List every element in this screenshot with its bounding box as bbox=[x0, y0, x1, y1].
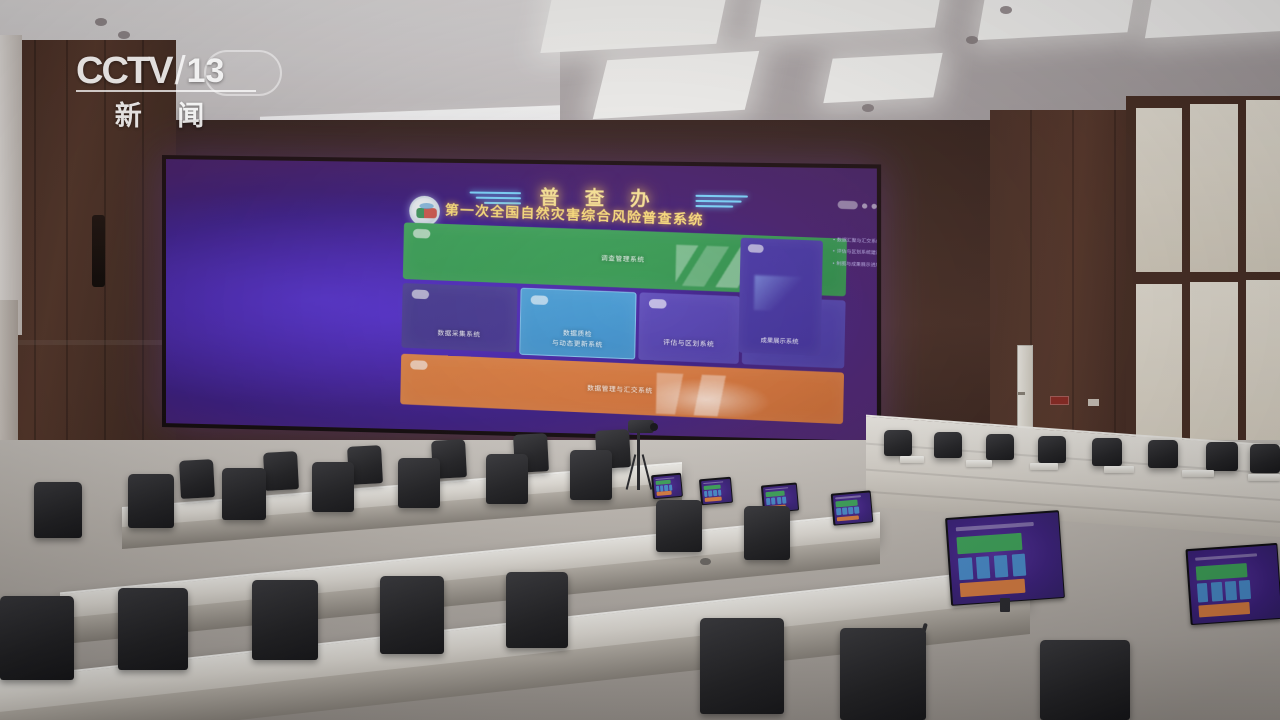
tile-data-collection[interactable]: 数据采集系统 bbox=[401, 283, 517, 353]
toolbar-user-pill[interactable] bbox=[838, 200, 858, 209]
monitor-screen-4 bbox=[832, 492, 871, 524]
monitor-screen-1 bbox=[653, 474, 682, 497]
wall-switch-plate bbox=[1088, 399, 1099, 406]
dais-chair-2 bbox=[934, 432, 962, 458]
tile-data-quality[interactable]: 数据质检 与动态更新系统 bbox=[519, 288, 636, 360]
screen-header-subtitle: 第一次全国自然灾害综合风险普查系统 bbox=[445, 198, 704, 229]
middle-chair-3 bbox=[222, 468, 266, 520]
main-led-wall[interactable]: 普 查 办 第一次全国自然灾害综合风险普查系统 bbox=[162, 155, 881, 445]
ceiling-fixture-dot-5 bbox=[118, 31, 130, 39]
tile-icon-exchange bbox=[410, 360, 428, 370]
tile-label-collection: 数据采集系统 bbox=[402, 327, 517, 342]
exit-sign bbox=[1050, 396, 1069, 405]
ceiling-fixture-dot-4 bbox=[95, 18, 107, 26]
tile-icon-collection bbox=[412, 289, 430, 299]
tile-result-display[interactable]: 成果展示系统 bbox=[738, 238, 823, 356]
delegate-monitor-4[interactable] bbox=[831, 490, 874, 525]
tripod-leg-left bbox=[626, 454, 637, 489]
dais-chair-4 bbox=[1038, 436, 1066, 463]
led-wall-content: 普 查 办 第一次全国自然灾害综合风险普查系统 bbox=[396, 170, 877, 441]
dais-chair-5 bbox=[1092, 438, 1122, 466]
right-beige-panel-3 bbox=[1246, 100, 1280, 272]
tripod-leg-center bbox=[637, 432, 640, 490]
lower-third-graphic: 新闻联播 XINWEN LIANBO 应急管理部综合减灾和改革协调司司长 吕红频… bbox=[0, 580, 1280, 720]
dais-nameplate-1 bbox=[900, 456, 924, 463]
desk-mouse[interactable] bbox=[700, 558, 711, 565]
right-beige-panel-1 bbox=[1136, 108, 1182, 272]
ceiling-panel-light-6 bbox=[823, 53, 942, 103]
middle-chair-6 bbox=[486, 454, 528, 504]
middle-chair-7 bbox=[570, 450, 612, 500]
camera-lens-icon bbox=[650, 423, 658, 431]
left-wall-light-column bbox=[0, 35, 22, 335]
tile-assessment-zoning[interactable]: 评估与区划系统 bbox=[638, 292, 740, 364]
middle-chair-5 bbox=[398, 458, 440, 508]
tile-label-quality: 数据质检 与动态更新系统 bbox=[520, 327, 634, 352]
middle-chair-1 bbox=[34, 482, 82, 538]
dais-chair-7 bbox=[1206, 442, 1238, 471]
delegate-monitor-2[interactable] bbox=[699, 477, 733, 506]
screen-status-list: • 数据汇聚与汇交系统建设进展 • 评估与区划系统建设进展 • 制图与成果展示进… bbox=[832, 235, 877, 274]
middle-chair-9 bbox=[744, 506, 790, 560]
tripod-leg-right bbox=[642, 454, 653, 489]
toolbar-icon-1[interactable] bbox=[862, 203, 867, 208]
tile-label-assessment: 评估与区划系统 bbox=[639, 337, 740, 351]
dais-nameplate-4 bbox=[1104, 466, 1134, 473]
toolbar-icon-2[interactable] bbox=[872, 203, 877, 208]
middle-chair-4 bbox=[312, 462, 354, 512]
tile-label-result: 成果展示系统 bbox=[738, 334, 820, 347]
ceiling-panel-light-3 bbox=[593, 51, 759, 119]
ceiling-fixture-dot-2 bbox=[966, 36, 978, 44]
dais-nameplate-3 bbox=[1030, 463, 1058, 470]
broadcast-frame: 普 查 办 第一次全国自然灾害综合风险普查系统 bbox=[0, 0, 1280, 720]
screen-toolbar[interactable] bbox=[838, 200, 877, 210]
tile-illustration-result bbox=[754, 275, 807, 312]
door-handle-icon bbox=[1018, 392, 1025, 395]
tile-icon-result bbox=[748, 244, 764, 253]
back-left-chair-2 bbox=[263, 451, 299, 491]
back-left-chair-1 bbox=[179, 459, 215, 499]
right-beige-panel-2 bbox=[1190, 104, 1238, 272]
dais-chair-3 bbox=[986, 434, 1014, 460]
dais-nameplate-5 bbox=[1182, 470, 1214, 477]
monitor-screen-2 bbox=[701, 478, 732, 503]
middle-chair-8 bbox=[656, 500, 702, 552]
delegate-monitor-1[interactable] bbox=[651, 473, 683, 500]
tile-icon-survey bbox=[413, 229, 431, 239]
dais-nameplate-6 bbox=[1248, 474, 1280, 481]
tile-icon-assessment bbox=[649, 299, 667, 309]
dais-chair-6 bbox=[1148, 440, 1178, 468]
middle-chair-2 bbox=[128, 474, 174, 528]
ceiling-fixture-dot-1 bbox=[1000, 6, 1012, 14]
ceiling-fixture-dot-3 bbox=[862, 104, 874, 112]
wall-speaker bbox=[92, 215, 105, 287]
led-wall-display: 普 查 办 第一次全国自然灾害综合风险普查系统 bbox=[166, 159, 877, 441]
tile-icon-quality bbox=[531, 295, 549, 305]
dais-nameplate-2 bbox=[966, 460, 992, 467]
dais-chair-8 bbox=[1250, 444, 1280, 473]
dais-chair-1 bbox=[884, 430, 912, 456]
